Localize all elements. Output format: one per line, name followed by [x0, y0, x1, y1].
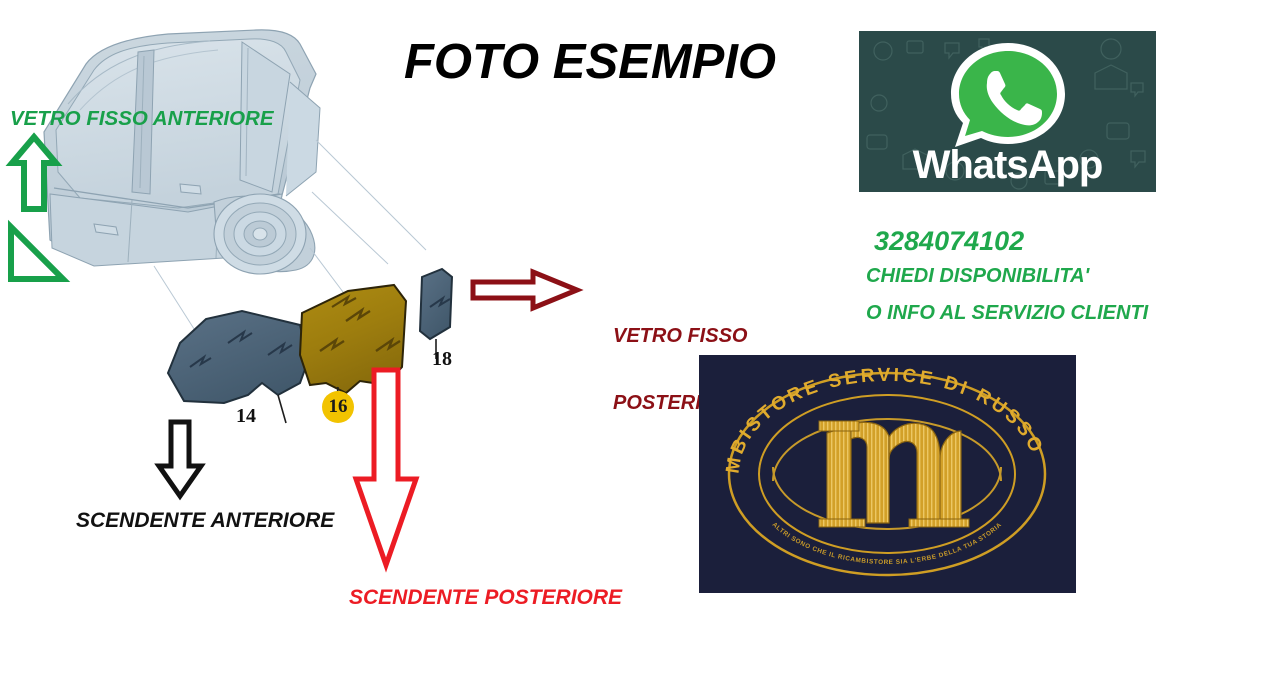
green-up-arrow-icon	[8, 133, 60, 213]
phone-number[interactable]: 3284074102	[874, 226, 1024, 257]
label-scendente-posteriore: SCENDENTE POSTERIORE	[349, 586, 622, 610]
label-scendente-anteriore: SCENDENTE ANTERIORE	[76, 509, 334, 533]
contact-line-2: O INFO AL SERVIZIO CLIENTI	[866, 302, 1148, 325]
part-number-16-badge: 16	[322, 391, 354, 423]
whatsapp-banner: WhatsApp	[859, 31, 1156, 192]
exploded-glass-parts	[150, 255, 490, 435]
glass-part-18	[420, 269, 452, 359]
part-number-18: 18	[432, 348, 452, 371]
black-down-arrow-icon	[155, 418, 205, 500]
dark-red-right-arrow-icon	[469, 268, 581, 312]
red-down-arrow-icon	[352, 367, 420, 569]
shop-logo-banner: MRICAMBISTORE SERVICE DI RUSSO MARCO ALT…	[699, 355, 1076, 593]
contact-line-1: CHIEDI DISPONIBILITA'	[866, 265, 1089, 288]
whatsapp-icon	[943, 39, 1073, 151]
whatsapp-wordmark: WhatsApp	[859, 143, 1156, 188]
part-number-14: 14	[236, 405, 256, 428]
page-title: FOTO ESEMPIO	[375, 38, 805, 87]
label-vetro-fisso-anteriore: VETRO FISSO ANTERIORE	[10, 108, 274, 131]
label-vfp-line1: VETRO FISSO	[613, 325, 747, 347]
green-triangle-icon	[6, 222, 68, 284]
poster-canvas: 14 16 17 18 FOTO ESEMPIO VETRO FISSO ANT…	[0, 0, 1264, 678]
